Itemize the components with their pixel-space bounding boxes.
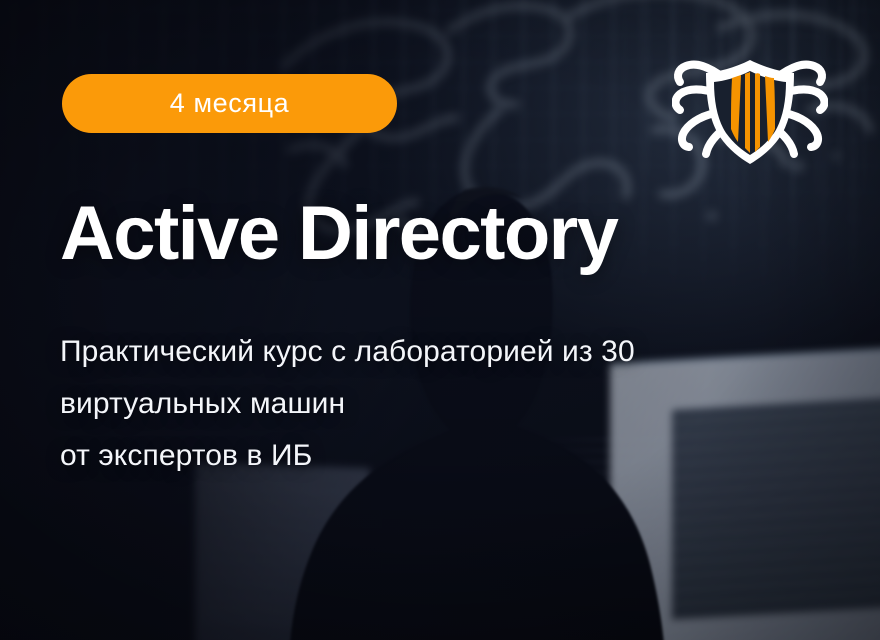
course-subtitle: Практический курс с лабораторией из 30 в… xyxy=(60,326,780,482)
duration-badge-label: 4 месяца xyxy=(170,90,290,117)
course-promo-banner: 4 месяца Active Directory Практический к… xyxy=(0,0,880,640)
subtitle-line-2: виртуальных машин xyxy=(60,378,780,430)
duration-badge: 4 месяца xyxy=(62,74,397,133)
subtitle-line-1: Практический курс с лабораторией из 30 xyxy=(60,326,780,378)
page-title: Active Directory xyxy=(60,196,617,272)
subtitle-line-3: от экспертов в ИБ xyxy=(60,430,780,482)
banner-content: 4 месяца Active Directory Практический к… xyxy=(0,0,880,640)
spider-shield-logo xyxy=(672,48,828,164)
